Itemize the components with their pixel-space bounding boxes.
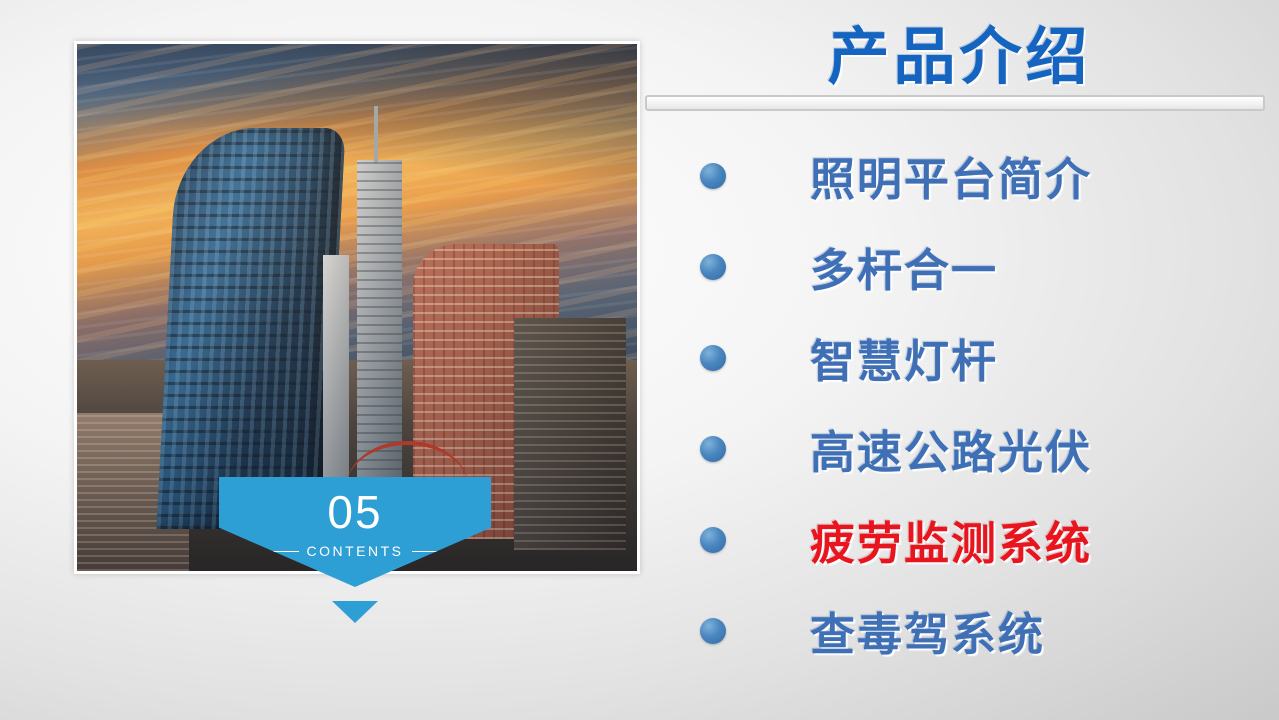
- list-item[interactable]: 高速公路光伏: [700, 403, 1260, 494]
- list-item[interactable]: 多杆合一: [700, 221, 1260, 312]
- building-slim-tower: [323, 255, 348, 508]
- list-item-label: 智慧灯杆: [810, 325, 998, 390]
- list-item-label: 查毒驾系统: [810, 598, 1045, 663]
- bullet-icon: [700, 618, 726, 644]
- slide: 05 CONTENTS 产品介绍 照明平台简介 多杆合一 智慧灯杆 高速公路光伏: [0, 0, 1279, 720]
- list-item-label-highlighted: 疲劳监测系统: [810, 507, 1092, 572]
- contents-number: 05: [219, 489, 491, 535]
- building-glass-tower: [156, 128, 345, 529]
- building-dark-block: [514, 318, 626, 550]
- bullet-icon: [700, 436, 726, 462]
- rule-left: [273, 551, 299, 552]
- list-item-label: 高速公路光伏: [810, 416, 1092, 481]
- contents-list: 照明平台简介 多杆合一 智慧灯杆 高速公路光伏 疲劳监测系统 查毒驾系统: [700, 130, 1260, 676]
- title-divider: [645, 95, 1265, 111]
- list-item[interactable]: 疲劳监测系统: [700, 494, 1260, 585]
- list-item[interactable]: 智慧灯杆: [700, 312, 1260, 403]
- rule-right: [412, 551, 438, 552]
- bullet-icon: [700, 163, 726, 189]
- list-item-label: 照明平台简介: [810, 143, 1092, 208]
- list-item-label: 多杆合一: [810, 234, 998, 299]
- bullet-icon: [700, 254, 726, 280]
- list-item[interactable]: 照明平台简介: [700, 130, 1260, 221]
- contents-label: CONTENTS: [307, 543, 404, 559]
- bullet-icon: [700, 345, 726, 371]
- list-item[interactable]: 查毒驾系统: [700, 585, 1260, 676]
- bullet-icon: [700, 527, 726, 553]
- chevron-down-icon: [332, 601, 378, 623]
- page-title: 产品介绍: [640, 6, 1279, 96]
